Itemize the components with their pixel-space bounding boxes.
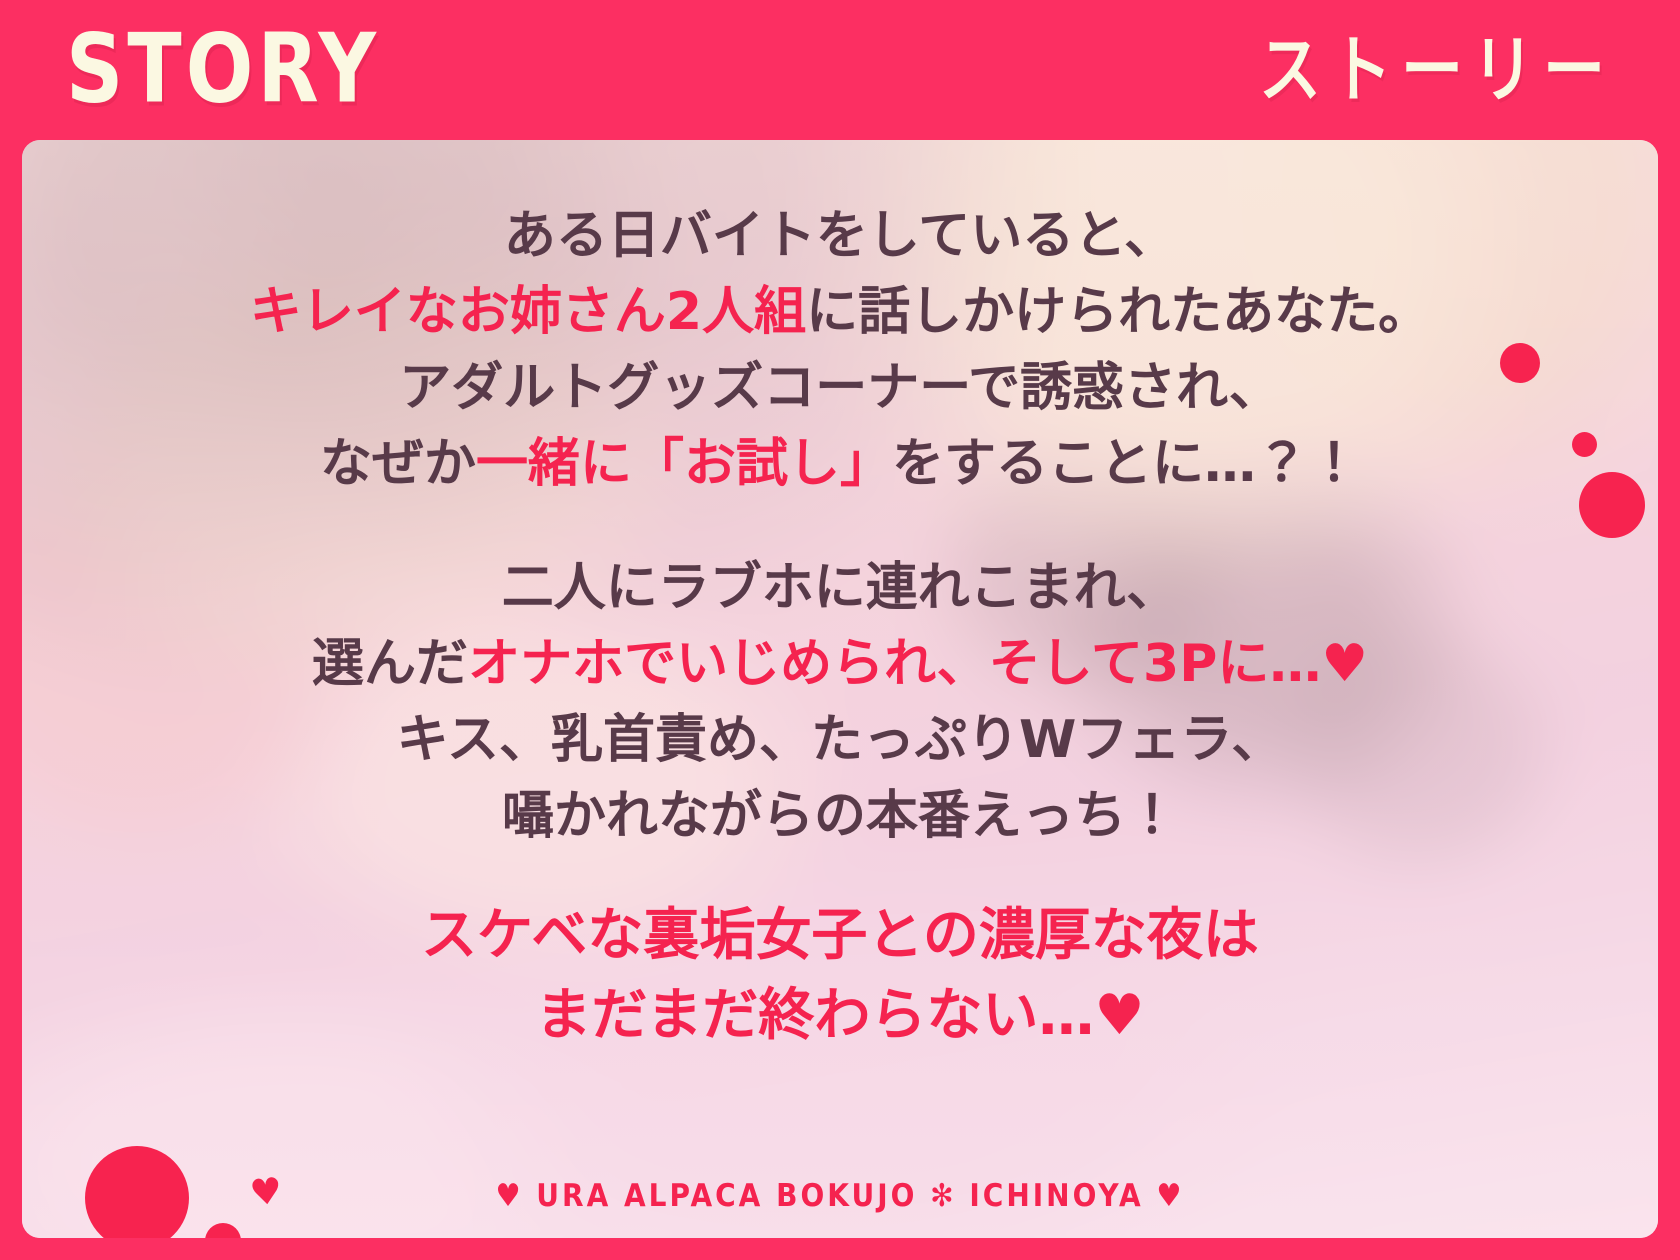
- story-line: 選んだオナホでいじめられ、そして3Pに…♥: [22, 626, 1658, 702]
- story-text: をすることに…？！: [892, 434, 1360, 494]
- story-text: ある日バイトをしていると、: [504, 206, 1176, 266]
- story-line: まだまだ終わらない…♥: [22, 976, 1658, 1056]
- story-text: 二人にラブホに連れこまれ、: [502, 558, 1179, 618]
- story-line: なぜか一緒に「お試し」をすることに…？！: [22, 426, 1658, 502]
- story-text: アダルトグッズコーナーで誘惑され、: [399, 358, 1280, 418]
- page-title-japanese: ストーリー: [1259, 33, 1620, 106]
- story-text: キス、乳首責め、たっぷりWフェラ、: [397, 710, 1284, 770]
- story-text-block: ある日バイトをしていると、キレイなお姉さん2人組に話しかけられたあなた。アダルト…: [22, 192, 1658, 1056]
- footer-credit: ♥ URA ALPACA BOKUJO ✻ ICHINOYA ♥: [22, 1177, 1658, 1214]
- story-paragraph-3: スケベな裏垢女子との濃厚な夜はまだまだ終わらない…♥: [22, 896, 1658, 1056]
- page-title-english: STORY: [66, 22, 380, 117]
- story-card: ♥ ある日バイトをしていると、キレイなお姉さん2人組に話しかけられたあなた。アダ…: [22, 140, 1658, 1238]
- story-text: なぜか: [320, 434, 476, 494]
- story-page: STORY ストーリー ♥ ある日バイトをしていると、キレイなお姉さん2人組に話…: [0, 0, 1680, 1260]
- story-line: 囁かれながらの本番えっち！: [22, 778, 1658, 854]
- story-line: ある日バイトをしていると、: [22, 198, 1658, 274]
- page-header: STORY ストーリー: [0, 0, 1680, 140]
- story-highlight: キレイなお姉さん2人組: [250, 282, 806, 342]
- story-line: アダルトグッズコーナーで誘惑され、: [22, 350, 1658, 426]
- story-line: 二人にラブホに連れこまれ、: [22, 550, 1658, 626]
- story-paragraph-1: ある日バイトをしていると、キレイなお姉さん2人組に話しかけられたあなた。アダルト…: [22, 198, 1658, 502]
- story-line: キス、乳首責め、たっぷりWフェラ、: [22, 702, 1658, 778]
- story-paragraph-2: 二人にラブホに連れこまれ、選んだオナホでいじめられ、そして3Pに…♥キス、乳首責…: [22, 550, 1658, 854]
- story-highlight: スケベな裏垢女子との濃厚な夜は: [421, 903, 1259, 968]
- story-text: に話しかけられたあなた。: [806, 282, 1430, 342]
- story-line: キレイなお姉さん2人組に話しかけられたあなた。: [22, 274, 1658, 350]
- story-highlight: 一緒に「お試し」: [476, 434, 892, 494]
- story-highlight: まだまだ終わらない…♥: [535, 983, 1144, 1048]
- story-highlight: オナホでいじめられ、そして3Pに…♥: [468, 634, 1368, 694]
- story-text: 選んだ: [312, 634, 468, 694]
- story-line: スケベな裏垢女子との濃厚な夜は: [22, 896, 1658, 976]
- story-text: 囁かれながらの本番えっち！: [502, 786, 1178, 846]
